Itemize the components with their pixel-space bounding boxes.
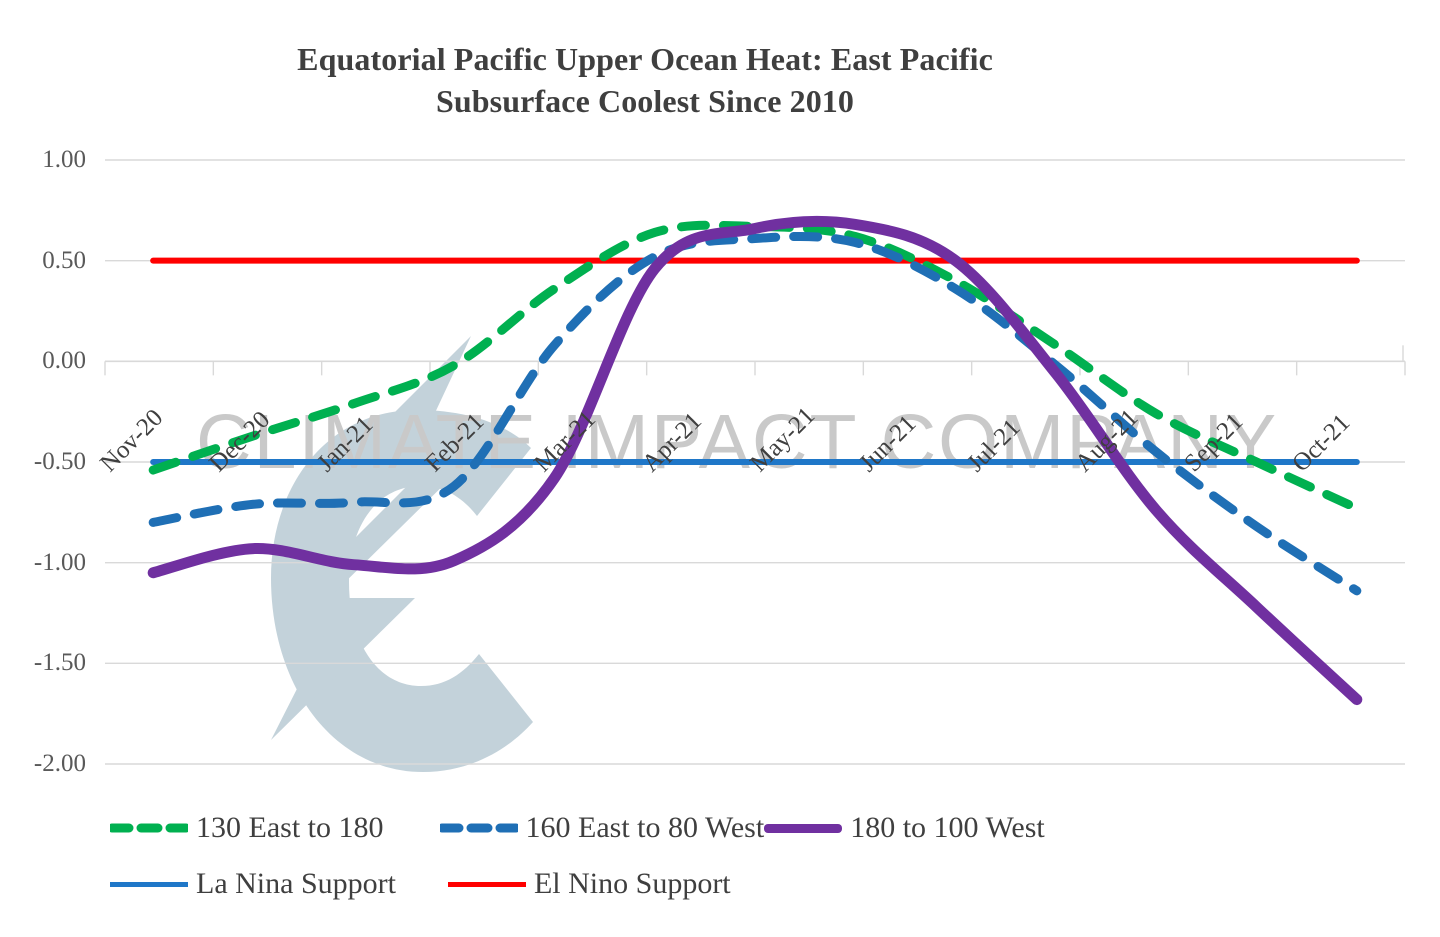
y-tick-label: -1.00 [34,549,86,577]
chart-title-line1: Equatorial Pacific Upper Ocean Heat: Eas… [297,41,993,77]
y-tick-label: 0.50 [42,247,86,275]
y-axis-labels: 1.000.500.00-0.50-1.00-1.50-2.00 [0,160,96,764]
chart-title-line2: Subsurface Coolest Since 2010 [0,80,1290,122]
legend-swatch [110,823,188,833]
legend-label: La Nina Support [196,869,396,899]
legend-row-2: La Nina SupportEl Nino Support [110,856,1430,912]
legend-item-la-nina-support[interactable]: La Nina Support [110,869,396,899]
y-tick-label: -1.50 [34,649,86,677]
chart-legend: 130 East to 180160 East to 80 West180 to… [110,800,1430,912]
plot-area: CLIMATE IMPACT COMPANY [105,160,1405,764]
legend-swatch [440,823,518,833]
legend-item-160-east-to-80-west[interactable]: 160 East to 80 West [440,813,765,843]
chart-container: Equatorial Pacific Upper Ocean Heat: Eas… [0,0,1440,937]
legend-row-1: 130 East to 180160 East to 80 West180 to… [110,800,1430,856]
y-tick-label: -0.50 [34,448,86,476]
legend-item-130-east-to-180[interactable]: 130 East to 180 [110,813,384,843]
legend-label: El Nino Support [534,869,731,899]
legend-swatch [448,882,526,887]
legend-swatch [764,824,842,833]
legend-swatch [110,882,188,887]
chart-title: Equatorial Pacific Upper Ocean Heat: Eas… [0,38,1290,122]
y-tick-label: 0.00 [42,347,86,375]
legend-item-el-nino-support[interactable]: El Nino Support [448,869,731,899]
plot-svg [105,160,1405,764]
legend-label: 180 to 100 West [850,813,1045,843]
legend-label: 160 East to 80 West [526,813,765,843]
y-tick-label: 1.00 [42,146,86,174]
legend-item-180-to-100-west[interactable]: 180 to 100 West [764,813,1045,843]
legend-label: 130 East to 180 [196,813,384,843]
y-tick-label: -2.00 [34,750,86,778]
x-axis-ticks [105,361,1405,375]
